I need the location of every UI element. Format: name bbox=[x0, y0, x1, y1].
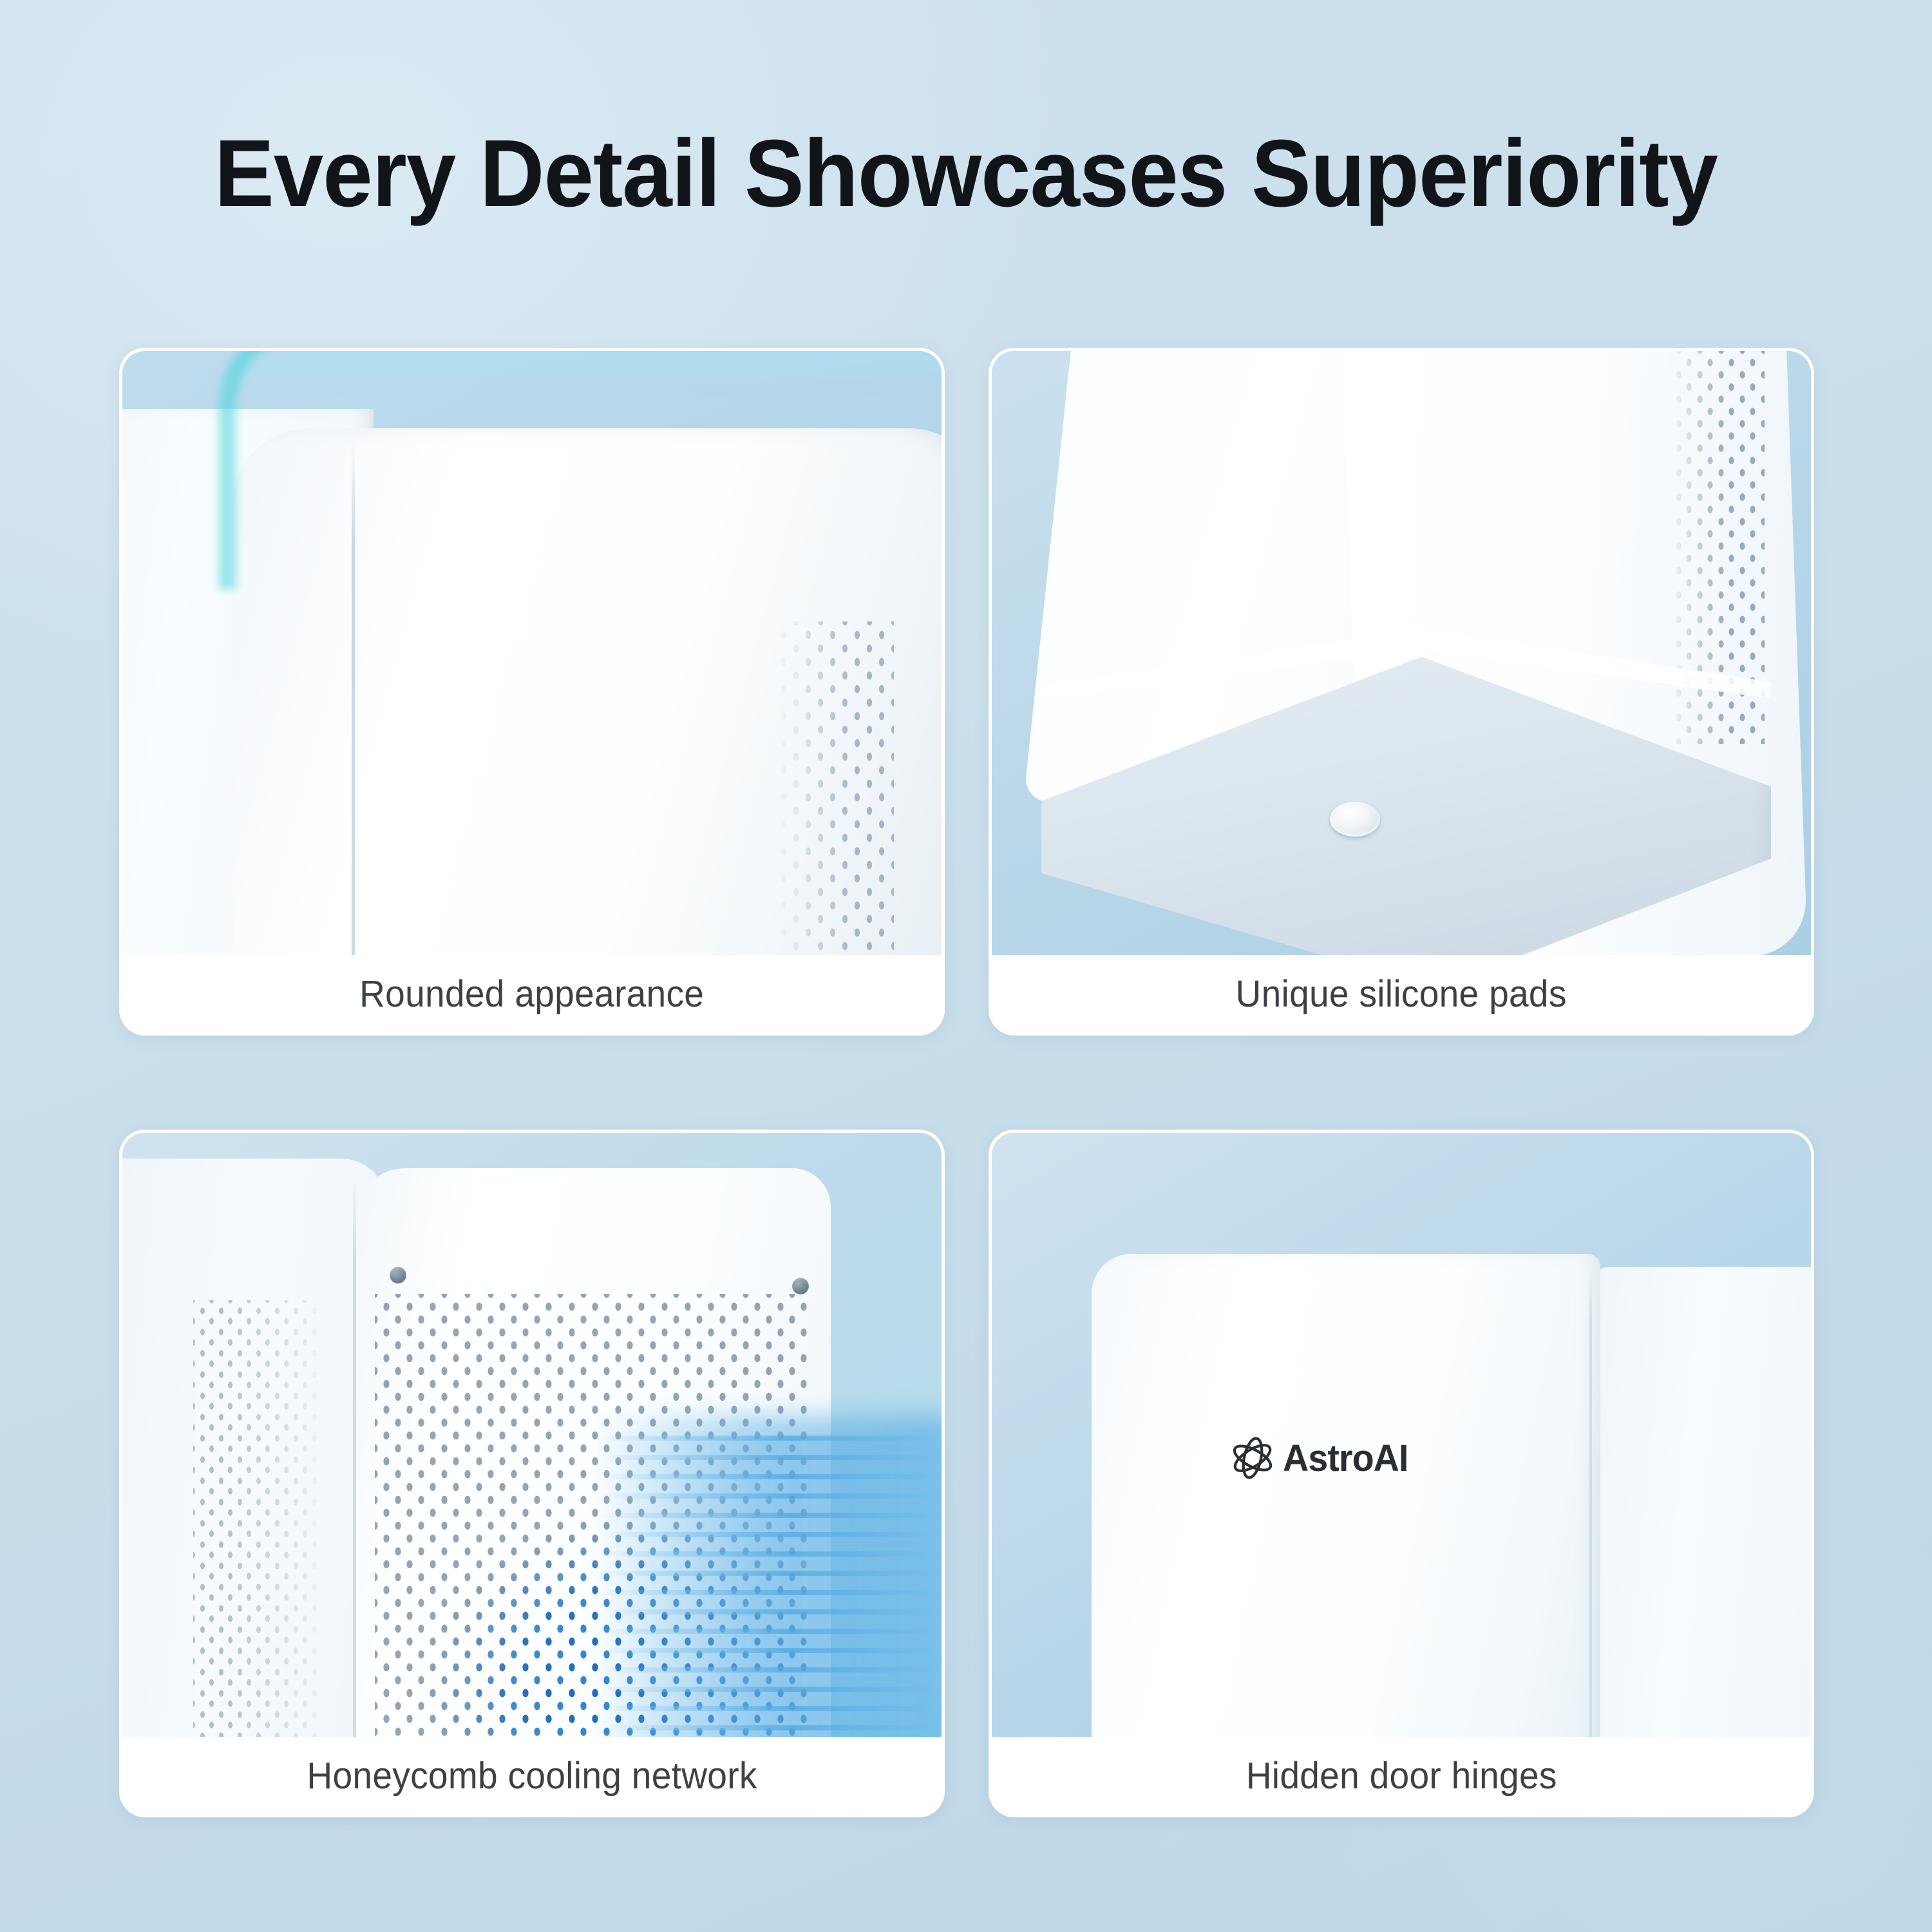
product-side-panel bbox=[1591, 1267, 1811, 1743]
honeycomb-vent-pattern bbox=[772, 621, 894, 961]
screw-icon bbox=[390, 1267, 406, 1283]
feature-card-rounded-appearance[interactable]: Rounded appearance bbox=[119, 348, 945, 1036]
honeycomb-vent-pattern-side bbox=[193, 1300, 322, 1743]
product-photo-unique-silicone-pads bbox=[992, 351, 1811, 961]
brand-logo-text: AstroAI bbox=[1283, 1437, 1408, 1480]
page-title: Every Detail Showcases Superiority bbox=[58, 126, 1874, 222]
brand-logo: AstroAI bbox=[1229, 1434, 1410, 1482]
caption-label: Rounded appearance bbox=[359, 972, 704, 1016]
hidden-hinge-seam bbox=[1589, 1271, 1592, 1743]
caption-label: Hidden door hinges bbox=[1245, 1754, 1557, 1797]
product-image-scene bbox=[992, 351, 1811, 961]
caption-bar: Hidden door hinges bbox=[992, 1737, 1811, 1814]
feature-card-honeycomb-cooling-network[interactable]: Honeycomb cooling network bbox=[119, 1130, 945, 1817]
caption-label: Unique silicone pads bbox=[1236, 972, 1567, 1016]
airflow-streaks bbox=[600, 1435, 942, 1743]
feature-card-unique-silicone-pads[interactable]: Unique silicone pads bbox=[989, 348, 1814, 1036]
screw-icon bbox=[792, 1278, 809, 1294]
silicone-pad bbox=[1330, 802, 1380, 837]
feature-card-hidden-door-hinges[interactable]: AstroAI Hidden door hinges bbox=[989, 1130, 1814, 1817]
product-edge-seam bbox=[353, 1178, 356, 1743]
caption-bar: Honeycomb cooling network bbox=[122, 1737, 942, 1814]
product-photo-rounded-appearance bbox=[122, 351, 942, 961]
caption-bar: Rounded appearance bbox=[122, 955, 942, 1032]
product-image-scene: AstroAI bbox=[992, 1133, 1811, 1743]
product-image-scene bbox=[122, 351, 942, 961]
product-photo-hidden-door-hinges: AstroAI bbox=[992, 1133, 1811, 1743]
atom-orbit-icon bbox=[1229, 1434, 1276, 1482]
feature-card-grid: Rounded appearance Unique silicone pads bbox=[119, 348, 1814, 1817]
product-door-panel bbox=[1092, 1254, 1600, 1743]
product-photo-honeycomb-cooling-network bbox=[122, 1133, 942, 1743]
cyan-edge-highlight bbox=[219, 351, 942, 589]
caption-label: Honeycomb cooling network bbox=[307, 1754, 757, 1797]
product-image-scene bbox=[122, 1133, 942, 1743]
caption-bar: Unique silicone pads bbox=[992, 955, 1811, 1032]
